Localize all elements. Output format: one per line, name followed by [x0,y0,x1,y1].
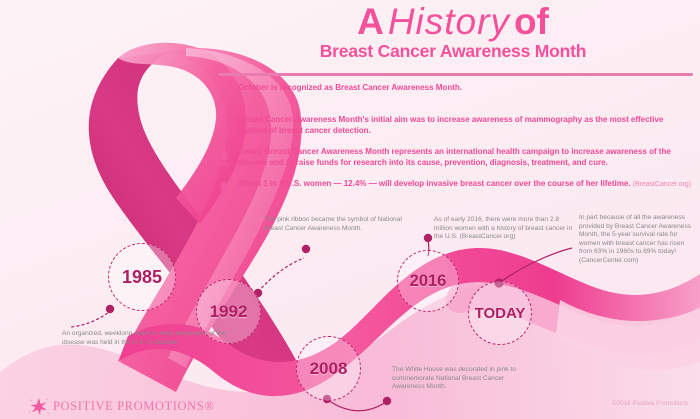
timeline-callout-2008: The White House was decorated in pink to… [392,366,532,392]
connector-dot-1992b [302,245,310,253]
ribbon-icon [215,148,233,170]
list-item: Breast Cancer Awareness Month's initial … [215,115,693,138]
title-word-a: A [357,1,384,42]
connector-dot-2016 [424,234,432,242]
infographic-poster: AHistoryof Breast Cancer Awareness Month… [0,0,700,419]
ribbon-icon [215,84,233,106]
list-item-text: Today, Breast Cancer Awareness Month rep… [238,147,693,169]
brand-name: POSITIVE PROMOTIONS® [53,399,214,414]
list-item-text: Breast Cancer Awareness Month's initial … [238,115,693,137]
title-divider [218,73,693,76]
timeline-callout-2016: As of early 2016, there were more than 2… [434,216,574,242]
timeline-callout-today: In part because of all the awareness pro… [579,214,697,266]
facts-list: October is recognized as Breast Cancer A… [215,83,693,211]
timeline-badge-label: TODAY [475,305,526,322]
timeline-badge-1985[interactable]: 1985 [108,243,176,311]
timeline-badge-today[interactable]: TODAY [468,281,532,345]
timeline-callout-1985: An organized, weeklong event to raise aw… [62,330,227,347]
timeline-badge-label: 2008 [310,359,348,379]
page-title: AHistoryof Breast Cancer Awareness Month [213,2,693,62]
list-item: About 1 in 8 U.S. women — 12.4% — will d… [215,179,693,202]
list-item-text: About 1 in 8 U.S. women — 12.4% — will d… [238,179,691,191]
ribbon-icon [215,116,233,138]
list-item: October is recognized as Breast Cancer A… [215,83,693,106]
title-word-history: History [384,1,514,42]
timeline-callout-1992: The pink ribbon became the symbol of Nat… [264,216,414,233]
title-subtitle: Breast Cancer Awareness Month [213,40,693,62]
list-item-text: October is recognized as Breast Cancer A… [238,83,462,95]
brand-logo[interactable]: POSITIVE PROMOTIONS® [28,396,214,416]
starburst-icon [28,396,50,416]
title-word-of: of [514,1,549,42]
connector-1985 [70,310,112,327]
timeline-badge-label: 1992 [210,302,248,322]
timeline-badge-label: 2016 [410,272,447,291]
timeline-badge-2016[interactable]: 2016 [397,250,459,312]
timeline-badge-2008[interactable]: 2008 [296,336,361,401]
ribbon-icon [215,180,233,202]
copyright-text: ©2016 Positive Promotions [612,400,688,407]
list-item: Today, Breast Cancer Awareness Month rep… [215,147,693,170]
timeline-badge-label: 1985 [122,267,162,288]
title-main: AHistoryof [213,2,693,42]
connector-dot-1985 [106,305,114,313]
connector-1992 [258,258,304,292]
connector-dot-2008b [383,397,391,405]
